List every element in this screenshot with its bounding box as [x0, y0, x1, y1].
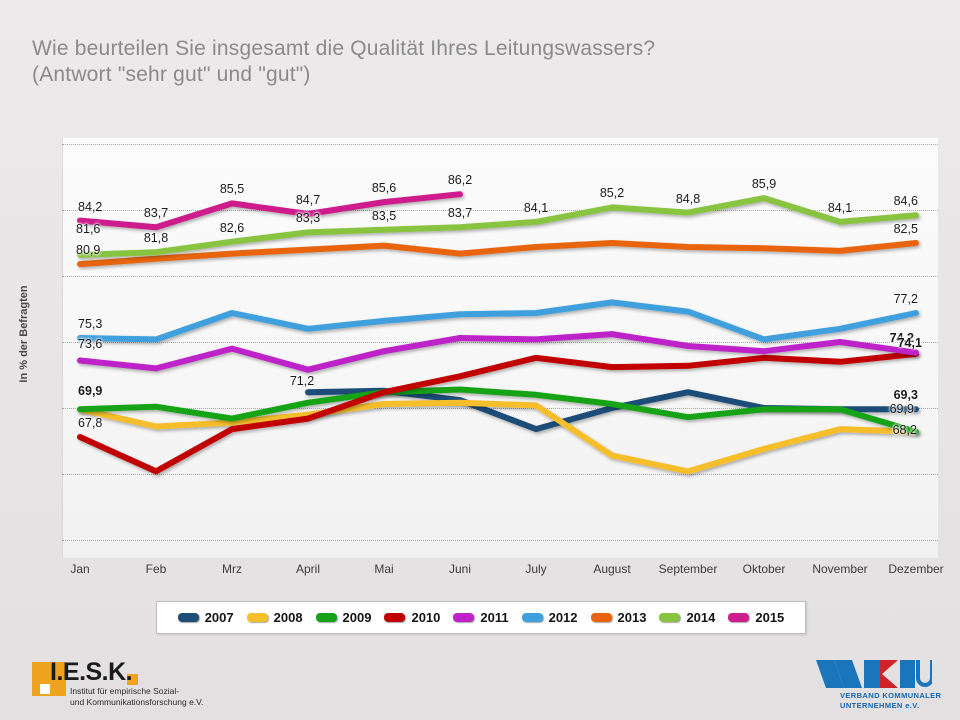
data-label-2009-jan: 69,9 [78, 384, 102, 398]
legend-item-2010[interactable]: 2010 [384, 610, 440, 625]
data-label-2008-dezember: 68,2 [893, 423, 917, 437]
vku-logo: VERBAND KOMMUNALER UNTERNEHMEN e.V. [812, 658, 952, 710]
data-label-2014-juni: 83,7 [448, 206, 472, 220]
legend-item-2007[interactable]: 2007 [178, 610, 234, 625]
x-tick-dezember: Dezember [888, 562, 943, 576]
legend-swatch-2012 [522, 613, 543, 622]
slide-canvas: Wie beurteilen Sie insgesamt die Qualitä… [0, 0, 960, 720]
legend-item-2015[interactable]: 2015 [728, 610, 784, 625]
data-label-2007-dezember: 69,3 [894, 388, 918, 402]
legend-swatch-2007 [178, 613, 199, 622]
legend-item-2014[interactable]: 2014 [659, 610, 715, 625]
x-tick-mrz: Mrz [222, 562, 242, 576]
legend-swatch-2013 [591, 613, 612, 622]
legend-label-2012: 2012 [549, 610, 578, 625]
x-tick-november: November [812, 562, 867, 576]
x-tick-july: July [525, 562, 546, 576]
data-label-2015-feb: 83,7 [144, 206, 168, 220]
chart-plot-area: 84,283,785,584,785,686,281,681,882,683,3… [62, 138, 938, 558]
data-label-2013-dezember: 82,5 [894, 222, 918, 236]
legend-item-2012[interactable]: 2012 [522, 610, 578, 625]
x-tick-oktober: Oktober [743, 562, 786, 576]
legend-swatch-2008 [247, 613, 268, 622]
page-title: Wie beurteilen Sie insgesamt die Qualitä… [32, 36, 655, 88]
legend-swatch-2010 [384, 613, 405, 622]
data-label-2013-jan: 80,9 [76, 243, 100, 257]
legend-label-2011: 2011 [480, 610, 508, 625]
x-tick-feb: Feb [146, 562, 167, 576]
vku-logo-subtitle: VERBAND KOMMUNALER UNTERNEHMEN e.V. [840, 691, 941, 711]
data-label-2015-april: 84,7 [296, 193, 320, 207]
legend-label-2009: 2009 [343, 610, 372, 625]
legend-label-2015: 2015 [755, 610, 784, 625]
x-tick-september: September [659, 562, 718, 576]
x-tick-mai: Mai [374, 562, 393, 576]
legend-swatch-2011 [453, 613, 474, 622]
data-label-2015-mrz: 85,5 [220, 182, 244, 196]
data-label-2014-july: 84,1 [524, 201, 548, 215]
legend-label-2007: 2007 [205, 610, 234, 625]
iesk-logo-name: I.E.S.K. [50, 658, 132, 687]
data-label-2012-jan: 75,3 [78, 317, 102, 331]
chart-legend[interactable]: 200720082009201020112012201320142015 [156, 601, 806, 634]
data-label-2007-april: 71,2 [290, 374, 314, 388]
legend-item-2008[interactable]: 2008 [247, 610, 303, 625]
data-label-2015-juni: 86,2 [448, 173, 472, 187]
data-label-2014-oktober: 85,9 [752, 177, 776, 191]
y-axis-label-wrap: In % der Befragten [10, 138, 32, 558]
series-line-2012 [80, 302, 916, 339]
data-label-2010-jan: 67,8 [78, 416, 102, 430]
legend-swatch-2015 [728, 613, 749, 622]
legend-label-2008: 2008 [274, 610, 303, 625]
series-line-2015 [80, 194, 460, 227]
y-axis-label: In % der Befragten [18, 234, 30, 434]
data-label-2014-september: 84,8 [676, 192, 700, 206]
x-tick-april: April [296, 562, 320, 576]
x-tick-august: August [593, 562, 630, 576]
data-label-2014-august: 85,2 [600, 186, 624, 200]
data-label-2011-jan: 73,6 [78, 337, 102, 351]
data-label-2014-mrz: 82,6 [220, 221, 244, 235]
legend-label-2010: 2010 [411, 610, 440, 625]
legend-item-2011[interactable]: 2011 [453, 610, 508, 625]
data-label-2010-dezember: 74,1 [898, 336, 922, 350]
legend-swatch-2009 [316, 613, 337, 622]
legend-swatch-2014 [659, 613, 680, 622]
data-label-2014-jan: 81,6 [76, 222, 100, 236]
data-label-2015-jan: 84,2 [78, 200, 102, 214]
chart-lines [62, 138, 938, 558]
legend-item-2013[interactable]: 2013 [591, 610, 647, 625]
iesk-logo: I.E.S.K. Institut für empirische Sozial-… [32, 660, 272, 708]
data-label-2014-november: 84,1 [828, 201, 852, 215]
x-tick-juni: Juni [449, 562, 471, 576]
legend-label-2013: 2013 [618, 610, 647, 625]
data-label-2014-mai: 83,5 [372, 209, 396, 223]
iesk-logo-subtitle: Institut für empirische Sozial- und Komm… [70, 686, 203, 708]
data-label-2014-feb: 81,8 [144, 231, 168, 245]
iesk-inner-square-icon [40, 684, 50, 694]
vku-wordmark-icon [812, 658, 932, 692]
data-label-2014-dezember: 84,6 [894, 194, 918, 208]
data-label-2012-dezember: 77,2 [894, 292, 918, 306]
data-label-2009-dezember: 69,9 [890, 402, 914, 416]
data-label-2014-april: 83,3 [296, 211, 320, 225]
x-tick-jan: Jan [70, 562, 89, 576]
data-label-2015-mai: 85,6 [372, 181, 396, 195]
legend-label-2014: 2014 [686, 610, 715, 625]
legend-item-2009[interactable]: 2009 [316, 610, 372, 625]
